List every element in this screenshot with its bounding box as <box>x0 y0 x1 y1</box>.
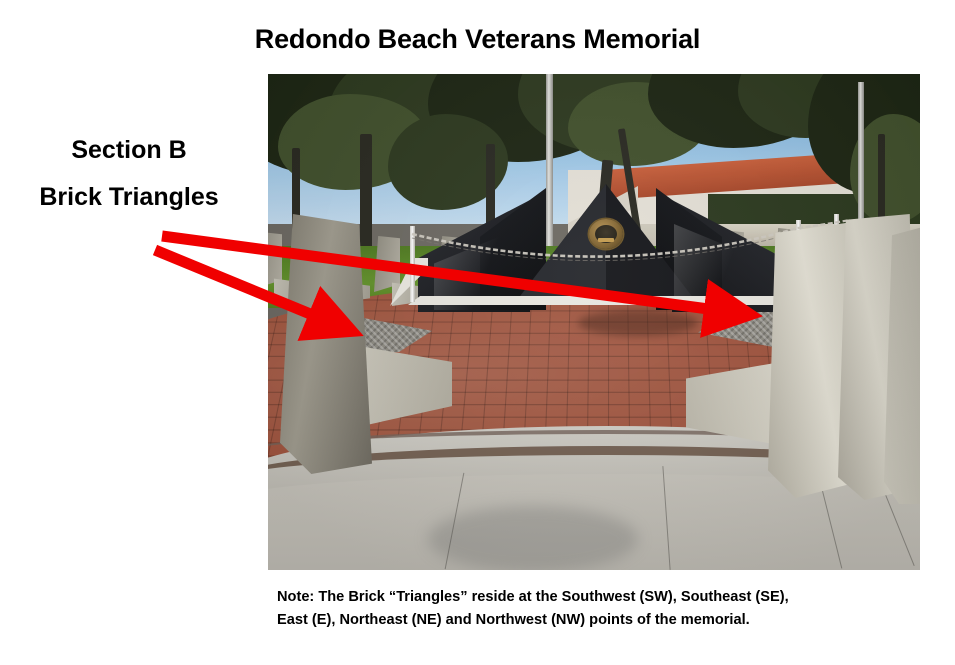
footnote-line-2: East (E), Northeast (NE) and Northwest (… <box>277 612 750 628</box>
memorial-photo <box>268 74 920 570</box>
callout-line-1: Section B <box>0 138 258 163</box>
sidewalk-stain <box>428 506 638 570</box>
footnote-line-1: Note: The Brick “Triangles” reside at th… <box>277 589 789 605</box>
callout-line-2: Brick Triangles <box>0 185 258 210</box>
page-title: Redondo Beach Veterans Memorial <box>0 24 955 55</box>
callout-label: Section B Brick Triangles <box>0 138 258 210</box>
footnote: Note: The Brick “Triangles” reside at th… <box>277 586 937 631</box>
slide-canvas: Redondo Beach Veterans Memorial Section … <box>0 0 955 665</box>
foreground-monolith-left <box>280 214 372 474</box>
